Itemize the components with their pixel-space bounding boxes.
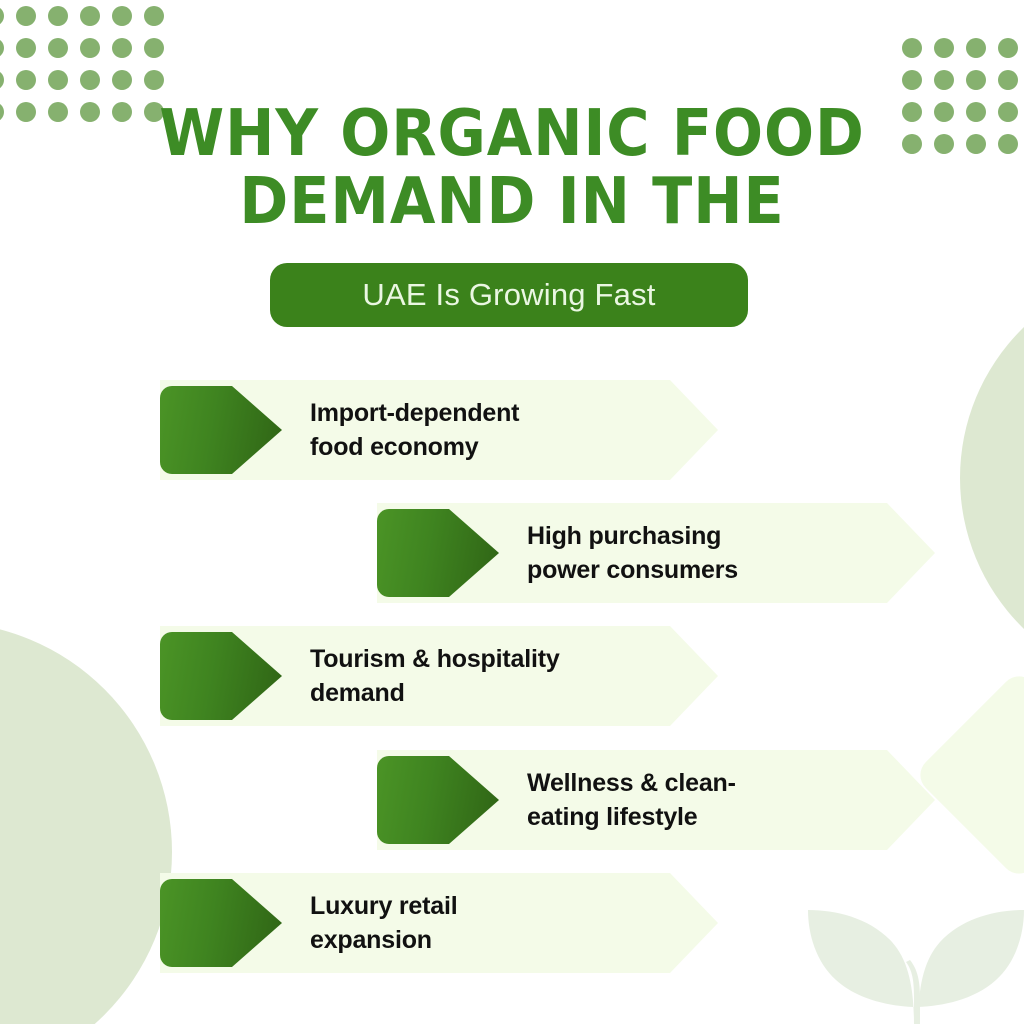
list-item-3[interactable]: Tourism & hospitality demand: [160, 626, 718, 726]
list-item-label: Import-dependent food economy: [310, 380, 710, 480]
infographic-poster: WHY ORGANIC FOOD DEMAND IN THE UAE Is Gr…: [0, 0, 1024, 1024]
list-item-label: Wellness & clean- eating lifestyle: [527, 750, 927, 850]
list-item-5[interactable]: Luxury retail expansion: [160, 873, 718, 973]
list-item-label: Luxury retail expansion: [310, 873, 710, 973]
reason-list: Import-dependent food economy High purch…: [0, 0, 1024, 1024]
list-item-4[interactable]: Wellness & clean- eating lifestyle: [377, 750, 935, 850]
list-item-label: Tourism & hospitality demand: [310, 626, 720, 726]
list-item-1[interactable]: Import-dependent food economy: [160, 380, 718, 480]
list-item-2[interactable]: High purchasing power consumers: [377, 503, 935, 603]
list-item-label: High purchasing power consumers: [527, 503, 927, 603]
